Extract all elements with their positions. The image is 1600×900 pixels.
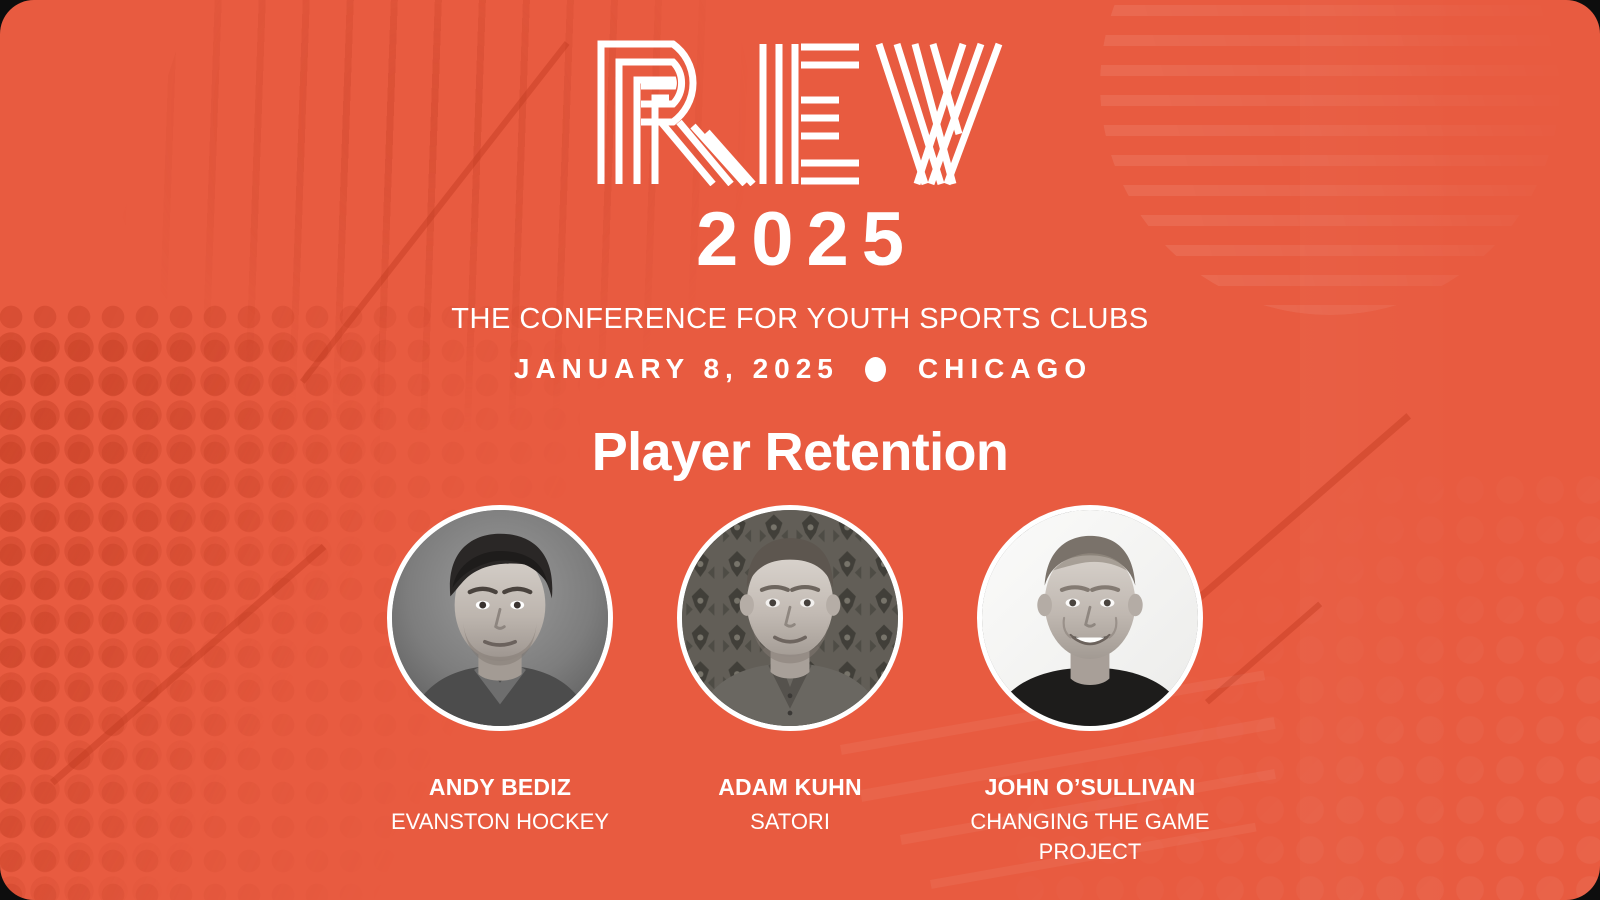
event-year: 2025: [0, 202, 1600, 278]
event-date: JANUARY 8, 2025: [508, 355, 839, 383]
speaker-list: ANDY BEDIZ EVANSTON HOCKEY: [0, 505, 1600, 867]
slide-canvas: 2025 THE CONFERENCE FOR YOUTH SPORTS CLU…: [0, 0, 1600, 900]
speaker-name: ANDY BEDIZ: [429, 775, 571, 800]
speaker-organization: EVANSTON HOCKEY: [391, 807, 609, 837]
session-title: Player Retention: [0, 420, 1600, 485]
event-tagline: THE CONFERENCE FOR YOUTH SPORTS CLUBS: [0, 305, 1600, 334]
speaker-name: JOHN O’SULLIVAN: [985, 775, 1196, 800]
event-date-location: JANUARY 8, 2025 CHICAGO: [0, 355, 1600, 383]
rev-logo: [0, 34, 1600, 186]
event-location: CHICAGO: [912, 355, 1092, 383]
avatar: [677, 505, 903, 731]
speaker-name: ADAM KUHN: [718, 775, 862, 800]
speaker-card: ANDY BEDIZ EVANSTON HOCKEY: [385, 505, 615, 837]
speaker-card: JOHN O’SULLIVAN CHANGING THE GAME PROJEC…: [965, 505, 1215, 867]
dot-separator-icon: [865, 357, 886, 382]
speaker-organization: CHANGING THE GAME PROJECT: [965, 807, 1215, 866]
avatar: [387, 505, 613, 731]
speaker-organization: SATORI: [750, 807, 830, 837]
avatar: [977, 505, 1203, 731]
speaker-card: ADAM KUHN SATORI: [675, 505, 905, 837]
event-card: 2025 THE CONFERENCE FOR YOUTH SPORTS CLU…: [0, 0, 1600, 900]
